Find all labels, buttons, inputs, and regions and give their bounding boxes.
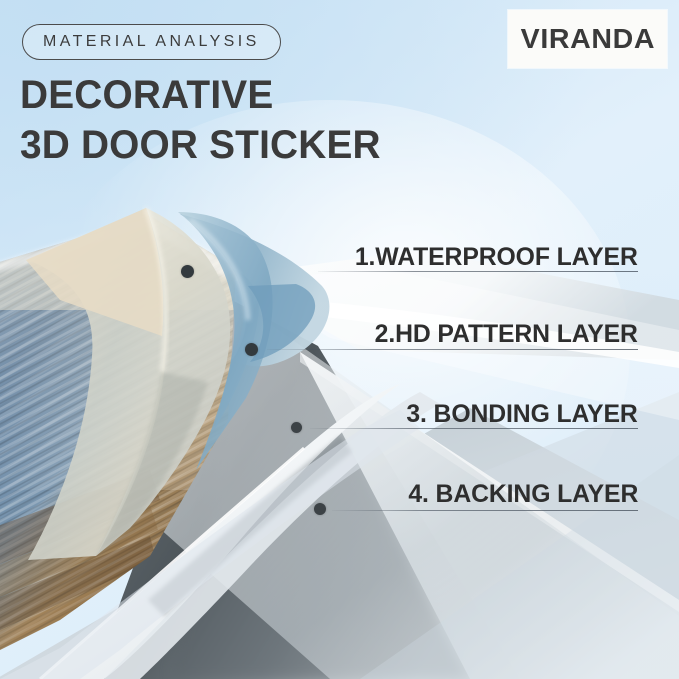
callout-text-2: 2.HD PATTERN LAYER — [375, 320, 638, 349]
callout-text-3: 3. BONDING LAYER — [407, 400, 638, 429]
callout-dot-1 — [181, 265, 194, 278]
leader-rule-4 — [332, 510, 638, 511]
title-line-1: DECORATIVE — [20, 70, 381, 120]
callout-text-4: 4. BACKING LAYER — [408, 480, 638, 509]
title-line-2: 3D DOOR STICKER — [20, 120, 381, 170]
eyebrow-label: MATERIAL ANALYSIS — [43, 33, 260, 51]
callout-label-4: 4. BACKING LAYER — [406, 480, 638, 509]
callout-label-2: 2.HD PATTERN LAYER — [372, 320, 638, 349]
brand-logo: VIRANDA — [508, 10, 667, 68]
callout-dot-3 — [291, 422, 302, 433]
page-title: DECORATIVE 3D DOOR STICKER — [20, 70, 381, 170]
brand-name: VIRANDA — [520, 23, 654, 55]
callout-dot-2 — [245, 343, 258, 356]
poster-canvas: MATERIAL ANALYSIS VIRANDA DECORATIVE 3D … — [0, 0, 679, 679]
eyebrow-badge: MATERIAL ANALYSIS — [22, 24, 281, 60]
callout-label-1: 1.WATERPROOF LAYER — [352, 243, 638, 272]
leader-rule-2 — [267, 349, 638, 350]
callout-dot-4 — [314, 503, 326, 515]
callout-label-3: 3. BONDING LAYER — [404, 400, 638, 429]
callout-text-1: 1.WATERPROOF LAYER — [355, 243, 638, 272]
